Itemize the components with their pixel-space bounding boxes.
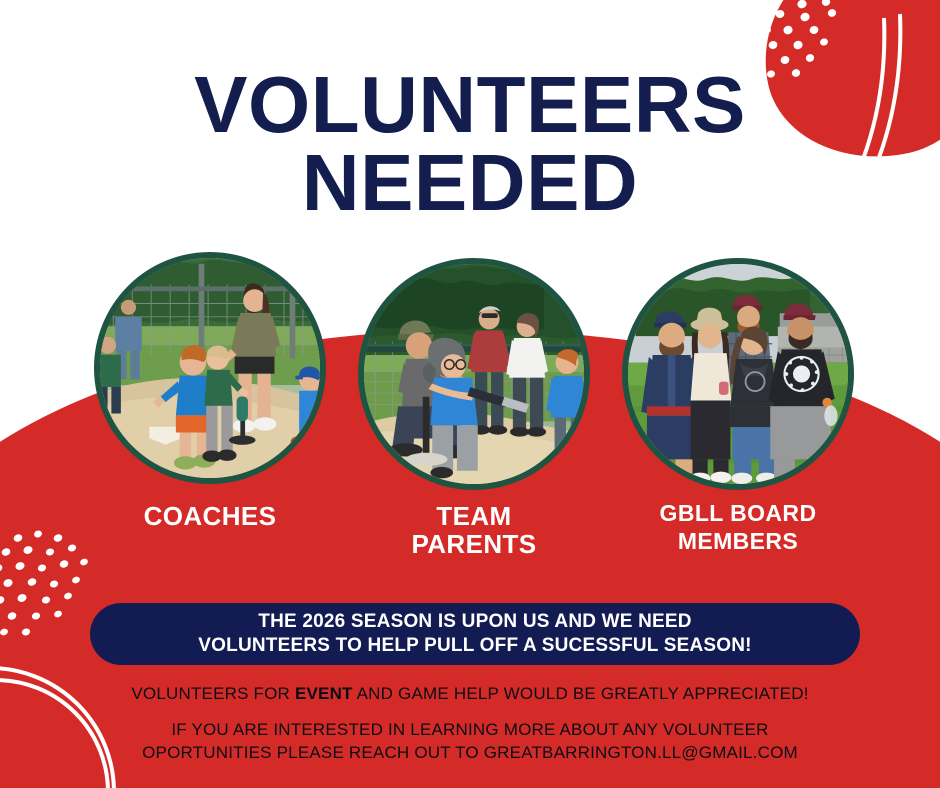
caption-team-parents-line-1: TEAM <box>358 503 590 531</box>
footer-line1-post: AND GAME HELP WOULD BE GREATLY APPRECIAT… <box>353 684 809 703</box>
caption-coaches: COACHES <box>94 503 326 531</box>
footer-line1-bold: EVENT <box>295 684 353 703</box>
caption-coaches-text: COACHES <box>144 501 277 531</box>
season-announcement-line-1: THE 2026 SEASON IS UPON US AND WE NEED <box>198 610 751 634</box>
role-photo-coaches <box>94 252 326 484</box>
caption-board-members: GBLL BOARD MEMBERS <box>622 500 854 555</box>
role-photo-board-members <box>622 258 854 490</box>
footer-appreciation-line: VOLUNTEERS FOR EVENT AND GAME HELP WOULD… <box>0 684 940 704</box>
poster-headline: VOLUNTEERS NEEDED <box>0 66 940 221</box>
season-announcement-banner: THE 2026 SEASON IS UPON US AND WE NEED V… <box>90 603 860 665</box>
footer-contact-line-2[interactable]: OPORTUNITIES PLEASE REACH OUT TO GREATBA… <box>0 741 940 764</box>
headline-line-1: VOLUNTEERS <box>0 66 940 144</box>
footer-contact-block: IF YOU ARE INTERESTED IN LEARNING MORE A… <box>0 718 940 765</box>
caption-board-members-line-1: GBLL BOARD <box>622 500 854 528</box>
photo-team-parents <box>358 258 590 490</box>
footer-line1-pre: VOLUNTEERS FOR <box>131 684 295 703</box>
footer-contact-line-1: IF YOU ARE INTERESTED IN LEARNING MORE A… <box>0 718 940 741</box>
photo-board-members-illustration <box>628 264 848 484</box>
volunteer-poster: VOLUNTEERS NEEDED <box>0 0 940 788</box>
photo-coaches-illustration <box>100 258 320 478</box>
headline-line-2: NEEDED <box>0 144 940 222</box>
photo-board-members <box>622 258 854 490</box>
caption-team-parents: TEAM PARENTS <box>358 503 590 559</box>
season-announcement-text: THE 2026 SEASON IS UPON US AND WE NEED V… <box>172 610 777 659</box>
caption-board-members-line-2: MEMBERS <box>622 528 854 556</box>
photo-team-parents-illustration <box>364 264 584 484</box>
season-announcement-line-2: VOLUNTEERS TO HELP PULL OFF A SUCESSFUL … <box>198 634 751 658</box>
role-photo-team-parents <box>358 258 590 490</box>
photo-coaches <box>94 252 326 484</box>
caption-team-parents-line-2: PARENTS <box>358 531 590 559</box>
role-photo-row <box>0 252 940 502</box>
